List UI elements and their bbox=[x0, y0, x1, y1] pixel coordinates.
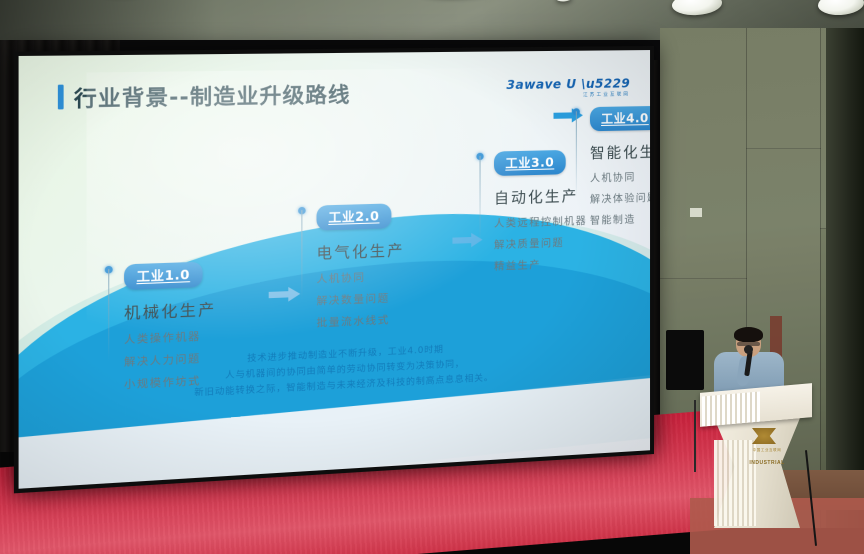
slide-title-row: 行业背景--制造业升级路线 bbox=[58, 78, 351, 113]
stage-heading: 智能化生产 bbox=[590, 140, 650, 164]
slide-canvas: 行业背景--制造业升级路线 3awave U \u5229 江苏工业互联网 工业… bbox=[19, 50, 650, 489]
stage-detail: 人机协同 bbox=[316, 265, 450, 286]
company-logo: 3awave U \u5229 江苏工业互联网 bbox=[506, 76, 630, 99]
stage-detail: 解决质量问题 bbox=[494, 232, 622, 252]
stage-detail: 解决体验问题 bbox=[590, 187, 650, 206]
timeline-tick bbox=[480, 156, 481, 244]
stage-industry-2: 工业2.0 电气化生产 人机协同 解决数量问题 批量流水线式 bbox=[316, 202, 450, 330]
microphone-head-icon bbox=[744, 345, 753, 354]
equipment-box bbox=[666, 330, 704, 390]
podium-emblem-label: 中国工业互联网 bbox=[744, 448, 790, 453]
speaker-hair bbox=[734, 327, 763, 342]
stage-heading: 机械化生产 bbox=[124, 296, 264, 324]
podium: 中国工业互联网 INDUSTRIAL bbox=[700, 388, 812, 538]
stage-badge: 工业4.0 bbox=[590, 106, 650, 131]
stage-badge: 工业3.0 bbox=[494, 150, 565, 176]
wall-panel bbox=[660, 28, 747, 279]
stage-detail: 解决数量问题 bbox=[316, 287, 450, 308]
stage-badge: 工业1.0 bbox=[124, 262, 202, 290]
wall-plate bbox=[690, 208, 702, 217]
mic-stand bbox=[694, 400, 696, 472]
conference-hall-scene: 行业背景--制造业升级路线 3awave U \u5229 江苏工业互联网 工业… bbox=[0, 0, 864, 554]
podium-emblem-label2: INDUSTRIAL bbox=[744, 460, 790, 466]
stage-detail: 人机协同 bbox=[590, 166, 650, 184]
projection-screen: 行业背景--制造业升级路线 3awave U \u5229 江苏工业互联网 工业… bbox=[14, 46, 654, 493]
logo-tagline: 江苏工业互联网 bbox=[506, 91, 630, 99]
logo-wordmark: 3awave U \u5229 bbox=[506, 76, 630, 92]
title-accent-bar bbox=[58, 85, 64, 110]
timeline-tick bbox=[108, 269, 109, 361]
timeline-tick bbox=[576, 111, 577, 198]
wall-panel bbox=[746, 28, 821, 149]
stage-detail: 智能制造 bbox=[590, 208, 650, 227]
stage-heading: 电气化生产 bbox=[316, 238, 450, 264]
timeline-tick bbox=[301, 210, 302, 300]
page-title: 行业背景--制造业升级路线 bbox=[74, 78, 351, 113]
stage-industry-4: 工业4.0 智能化生产 人机协同 解决体验问题 智能制造 bbox=[590, 105, 650, 227]
podium-ribs-upper bbox=[702, 391, 760, 426]
stage-badge: 工业2.0 bbox=[316, 203, 391, 230]
stage-detail: 人类操作机器 bbox=[124, 325, 264, 347]
arrow-1-to-2 bbox=[269, 285, 302, 303]
right-wall-shadow bbox=[826, 28, 864, 528]
screen-frame: 行业背景--制造业升级路线 3awave U \u5229 江苏工业互联网 工业… bbox=[14, 46, 654, 493]
